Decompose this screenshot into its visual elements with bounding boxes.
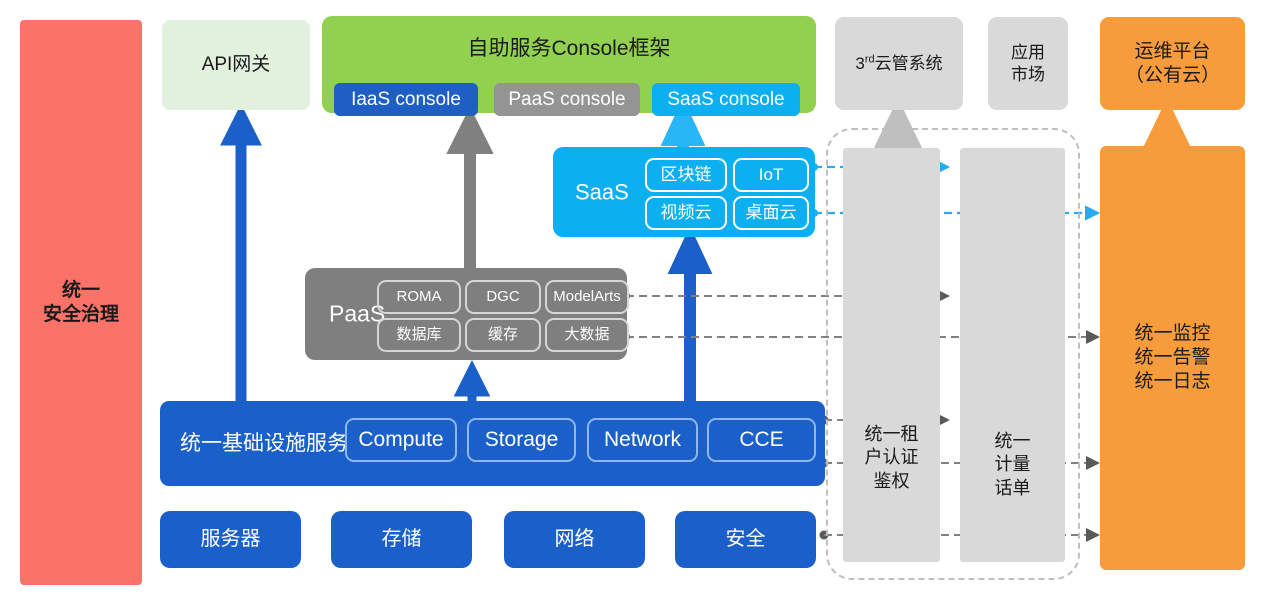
arrow-paas-to-console bbox=[456, 120, 484, 270]
paas-chip-dgc[interactable]: DGC bbox=[465, 280, 541, 314]
security-governance-label: 统一 安全治理 bbox=[43, 279, 119, 327]
saas-chip-video-cloud[interactable]: 视频云 bbox=[645, 196, 727, 230]
unified-metering-column: 统一 计量 话单 bbox=[960, 148, 1065, 562]
ops-platform-public-cloud-label: 运维平台 （公有云） bbox=[1125, 40, 1220, 88]
console-framework-box: 自助服务Console框架 IaaS console PaaS console … bbox=[322, 16, 816, 113]
unified-monitoring-panel: 统一监控 统一告警 统一日志 bbox=[1100, 146, 1245, 570]
infra-chip-network[interactable]: Network bbox=[587, 418, 698, 462]
third-party-cloud-mgmt-label: 3rd云管系统 bbox=[855, 53, 942, 74]
paas-console-chip[interactable]: PaaS console bbox=[494, 83, 640, 116]
paas-chip-cache[interactable]: 缓存 bbox=[465, 318, 541, 352]
architecture-diagram: 统一 安全治理 API网关 自助服务Console框架 IaaS console… bbox=[0, 0, 1265, 605]
paas-console-label: PaaS console bbox=[508, 88, 625, 112]
arrow-infra-to-api-gateway bbox=[229, 116, 253, 405]
paas-chip-roma[interactable]: ROMA bbox=[377, 280, 461, 314]
saas-chip-iot[interactable]: IoT bbox=[733, 158, 809, 192]
resource-security[interactable]: 安全 bbox=[675, 511, 816, 568]
api-gateway-label: API网关 bbox=[202, 53, 271, 77]
arrow-infra-to-saas bbox=[677, 240, 703, 405]
unified-metering-label: 统一 计量 话单 bbox=[960, 430, 1065, 500]
saas-chip-desktop-cloud[interactable]: 桌面云 bbox=[733, 196, 809, 230]
resource-servers[interactable]: 服务器 bbox=[160, 511, 301, 568]
arrow-infra-to-paas bbox=[461, 370, 483, 405]
console-framework-title: 自助服务Console框架 bbox=[322, 36, 816, 62]
saas-chip-blockchain[interactable]: 区块链 bbox=[645, 158, 727, 192]
third-party-cloud-mgmt-box: 3rd云管系统 bbox=[835, 17, 963, 110]
iaas-console-label: IaaS console bbox=[351, 88, 461, 112]
resource-storage[interactable]: 存储 bbox=[331, 511, 472, 568]
api-gateway-box: API网关 bbox=[162, 20, 310, 110]
saas-box: SaaS 区块链 IoT 视频云 桌面云 bbox=[553, 147, 815, 237]
app-market-label: 应用 市场 bbox=[1011, 42, 1045, 85]
saas-label: SaaS bbox=[575, 178, 629, 206]
paas-chip-bigdata[interactable]: 大数据 bbox=[545, 318, 629, 352]
iaas-console-chip[interactable]: IaaS console bbox=[334, 83, 478, 116]
infra-chip-compute[interactable]: Compute bbox=[345, 418, 457, 462]
saas-console-chip[interactable]: SaaS console bbox=[652, 83, 800, 116]
infra-chip-cce[interactable]: CCE bbox=[707, 418, 816, 462]
unified-infrastructure-label: 统一基础设施服务 bbox=[180, 430, 348, 456]
app-market-box: 应用 市场 bbox=[988, 17, 1068, 110]
paas-chip-database[interactable]: 数据库 bbox=[377, 318, 461, 352]
resource-security-label: 安全 bbox=[726, 527, 766, 552]
saas-console-label: SaaS console bbox=[667, 88, 784, 112]
resource-storage-label: 存储 bbox=[382, 527, 422, 552]
ops-platform-public-cloud-box: 运维平台 （公有云） bbox=[1100, 17, 1245, 110]
resource-network[interactable]: 网络 bbox=[504, 511, 645, 568]
resource-servers-label: 服务器 bbox=[201, 527, 261, 552]
security-governance-panel: 统一 安全治理 bbox=[20, 20, 142, 585]
unified-tenant-auth-label: 统一租 户认证 鉴权 bbox=[843, 423, 940, 493]
resource-network-label: 网络 bbox=[555, 527, 595, 552]
unified-monitoring-label: 统一监控 统一告警 统一日志 bbox=[1134, 322, 1210, 393]
paas-chip-modelarts[interactable]: ModelArts bbox=[545, 280, 629, 314]
paas-box: PaaS ROMA DGC ModelArts 数据库 缓存 大数据 bbox=[305, 268, 627, 360]
infra-chip-storage[interactable]: Storage bbox=[467, 418, 576, 462]
unified-tenant-auth-column: 统一租 户认证 鉴权 bbox=[843, 148, 940, 562]
